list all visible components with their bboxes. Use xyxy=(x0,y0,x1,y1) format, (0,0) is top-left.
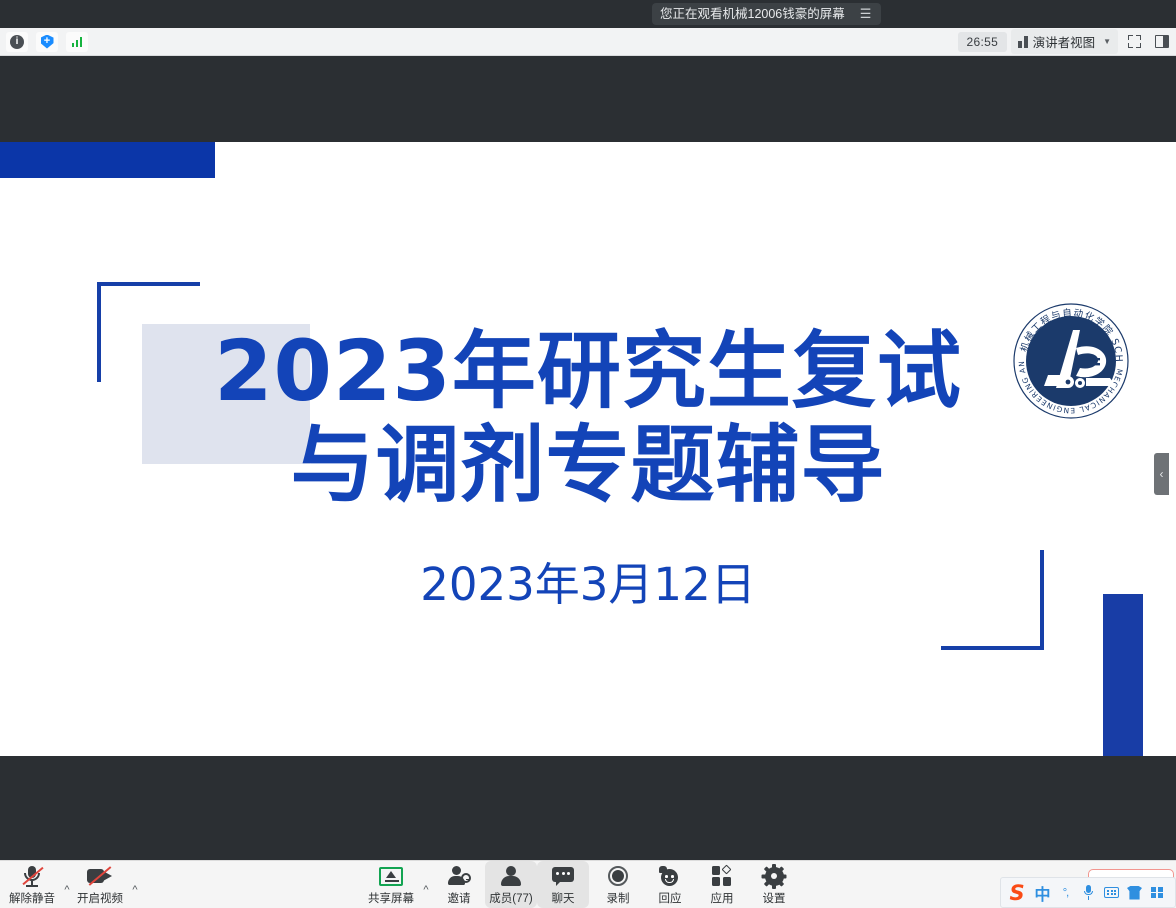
top-toolbar-right-group: 26:55 演讲者视图 ▼ xyxy=(958,29,1176,54)
participants-icon xyxy=(500,864,522,888)
security-shield-icon xyxy=(41,35,54,49)
camera-off-icon xyxy=(87,864,113,888)
meeting-top-toolbar: i 26:55 演讲者视图 ▼ xyxy=(0,28,1176,56)
network-signal-icon xyxy=(72,36,83,47)
bottom-toolbar-left-group: 解除静音 ^ 开启视频 ^ xyxy=(0,861,142,908)
video-options-chevron-icon[interactable]: ^ xyxy=(126,884,142,908)
soft-keyboard-icon[interactable] xyxy=(1100,880,1123,906)
screen-share-notification-strip: 您正在观看机械12006钱豪的屏幕 ☰ xyxy=(0,0,1176,28)
fullscreen-button[interactable] xyxy=(1122,31,1146,53)
reactions-button[interactable]: 回应 xyxy=(644,861,696,908)
punctuation-icon[interactable]: °, xyxy=(1054,880,1077,906)
bottom-toolbar-center-group: 共享屏幕 ^ 邀请 成员(77) 聊天 xyxy=(365,861,589,908)
toolbox-icon[interactable] xyxy=(1146,880,1169,906)
slide-date: 2023年3月12日 xyxy=(420,548,755,613)
info-icon: i xyxy=(10,35,24,49)
viewing-screen-pill: 您正在观看机械12006钱豪的屏幕 ☰ xyxy=(652,3,881,25)
video-toggle-label: 开启视频 xyxy=(77,890,123,906)
reactions-icon xyxy=(659,864,681,888)
mute-toggle-button[interactable]: 解除静音 xyxy=(6,861,58,908)
sogou-ime-toolbar: S 中 °, xyxy=(1000,877,1176,908)
reactions-label: 回应 xyxy=(659,890,682,906)
chat-button[interactable]: 聊天 xyxy=(537,861,589,908)
meeting-timer: 26:55 xyxy=(958,32,1008,52)
mute-toggle-label: 解除静音 xyxy=(9,890,55,906)
chat-bubble-icon xyxy=(552,864,574,888)
apps-grid-icon xyxy=(712,864,733,888)
apps-button[interactable]: 应用 xyxy=(696,861,748,908)
side-panel-collapse-tab[interactable]: ‹ xyxy=(1154,453,1169,495)
share-screen-label: 共享屏幕 xyxy=(368,890,414,906)
shared-screen-backdrop xyxy=(0,56,1176,142)
shared-slide-content: 2023年研究生复试 与调剂专题辅导 2023年3月12日 机械工程与自动化学院… xyxy=(0,142,1176,756)
slide-title: 2023年研究生复试 与调剂专题辅导 xyxy=(214,324,962,512)
chevron-down-icon: ▼ xyxy=(1103,37,1111,46)
lower-dark-backdrop xyxy=(0,756,1176,860)
viewing-screen-label: 您正在观看机械12006钱豪的屏幕 xyxy=(660,3,845,25)
share-options-chevron-icon[interactable]: ^ xyxy=(417,884,433,908)
record-label: 录制 xyxy=(607,890,630,906)
sogou-logo-icon[interactable]: S xyxy=(1003,881,1031,905)
speaker-view-icon xyxy=(1018,36,1028,48)
meeting-info-button[interactable]: i xyxy=(6,32,28,52)
skin-icon[interactable] xyxy=(1123,880,1146,906)
top-toolbar-left-group: i xyxy=(0,32,88,52)
chat-label: 聊天 xyxy=(552,890,575,906)
share-screen-button[interactable]: 共享屏幕 xyxy=(365,861,417,908)
layout-toggle-button[interactable] xyxy=(1150,31,1174,53)
invite-person-icon xyxy=(447,864,471,888)
record-button[interactable]: 录制 xyxy=(592,861,644,908)
bottom-toolbar-right-group: 录制 回应 应用 设置 xyxy=(592,861,800,908)
participants-button[interactable]: 成员(77) xyxy=(485,861,537,908)
record-icon xyxy=(608,864,628,888)
notification-menu-icon[interactable]: ☰ xyxy=(855,3,877,25)
microphone-muted-icon xyxy=(22,864,42,888)
participants-label: 成员(77) xyxy=(489,890,532,906)
school-emblem-logo: 机械工程与自动化学院 SCHOOL OF MECHANICAL ENGINEER… xyxy=(1010,300,1162,422)
audio-options-chevron-icon[interactable]: ^ xyxy=(58,884,74,908)
security-button[interactable] xyxy=(36,32,58,52)
voice-input-icon[interactable] xyxy=(1077,880,1100,906)
settings-label: 设置 xyxy=(763,890,786,906)
view-mode-selector[interactable]: 演讲者视图 ▼ xyxy=(1011,29,1118,54)
settings-gear-icon xyxy=(764,864,785,888)
apps-label: 应用 xyxy=(711,890,734,906)
network-status-button[interactable] xyxy=(66,32,88,52)
share-screen-icon xyxy=(379,864,403,888)
video-toggle-button[interactable]: 开启视频 xyxy=(74,861,126,908)
slide-text-block: 2023年研究生复试 与调剂专题辅导 2023年3月12日 xyxy=(0,142,1176,756)
settings-button[interactable]: 设置 xyxy=(748,861,800,908)
fullscreen-icon xyxy=(1128,35,1141,48)
invite-label: 邀请 xyxy=(448,890,471,906)
chinese-mode-icon[interactable]: 中 xyxy=(1031,880,1054,906)
layout-toggle-icon xyxy=(1155,35,1169,48)
invite-button[interactable]: 邀请 xyxy=(433,861,485,908)
view-mode-label: 演讲者视图 xyxy=(1033,32,1096,51)
